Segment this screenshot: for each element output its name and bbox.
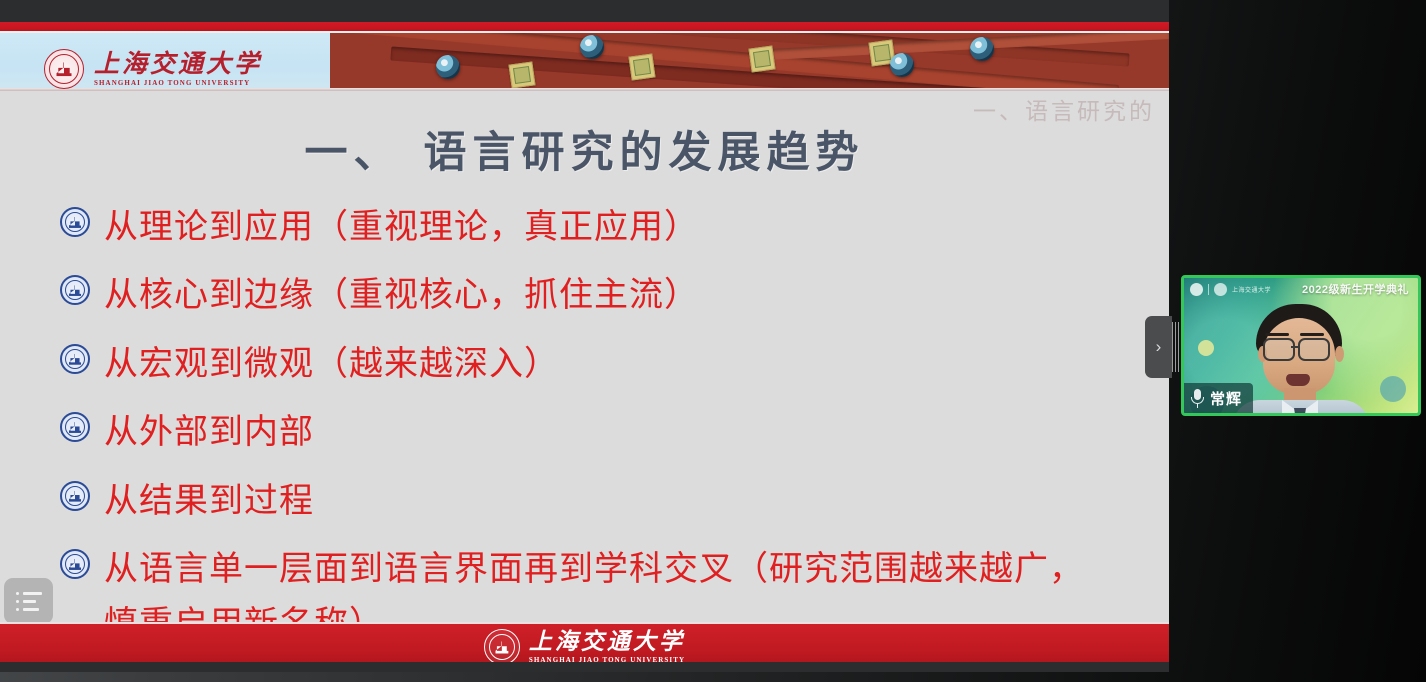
sjtu-seal-bullet-icon <box>60 344 90 374</box>
participant-name: 常辉 <box>1210 388 1242 409</box>
virtual-bg-title: 2022级新生开学典礼 <box>1302 281 1409 297</box>
bullet-text: 从宏观到微观（越来越深入） <box>104 337 559 392</box>
bullet-text: 从理论到应用（重视理论，真正应用） <box>104 200 699 255</box>
list-item: 从外部到内部 <box>60 405 1140 460</box>
sjtu-seal-bullet-icon <box>60 412 90 442</box>
list-item: 从结果到过程 <box>60 474 1140 529</box>
panel-collapse-button[interactable]: › <box>1145 316 1172 378</box>
list-item: 从核心到边缘（重视核心，抓住主流） <box>60 268 1140 323</box>
sjtu-seal-icon <box>484 629 520 665</box>
sjtu-seal-bullet-icon <box>60 549 90 579</box>
bullet-text: 从核心到边缘（重视核心，抓住主流） <box>104 268 699 323</box>
sjtu-seal-bullet-icon <box>60 275 90 305</box>
sjtu-seal-bullet-icon <box>60 481 90 511</box>
microphone-icon <box>1191 389 1204 408</box>
sjtu-logo-header: 上海交通大学 SHANGHAI JIAO TONG UNIVERSITY <box>44 48 262 90</box>
slide-bullet-list: 从理论到应用（重视理论，真正应用） 从核心到边缘（重视核心，抓住主流） 从宏观到… <box>60 200 1140 666</box>
outline-list-icon <box>16 592 42 611</box>
top-bar <box>0 0 1169 22</box>
screen-root: 上海交通大学 SHANGHAI JIAO TONG UNIVERSITY 一、语… <box>0 0 1426 682</box>
previous-slide-ghost-text: 一、语言研究的 <box>973 92 1155 126</box>
sjtu-logo-chinese: 上海交通大学 <box>94 51 262 76</box>
list-item: 从宏观到微观（越来越深入） <box>60 337 1140 392</box>
org-logo-icon <box>1190 283 1203 296</box>
chevron-right-icon: › <box>1156 337 1162 357</box>
banner-architecture-photo <box>330 33 1169 91</box>
virtual-bg-org: 上海交通大学 <box>1232 285 1271 294</box>
sjtu-logo-footer: 上海交通大学 SHANGHAI JIAO TONG UNIVERSITY <box>484 629 685 665</box>
participant-name-badge: 常辉 <box>1184 383 1253 413</box>
participant-video-tile[interactable]: 上海交通大学 2022级新生开学典礼 常辉 <box>1181 275 1421 416</box>
sjtu-seal-bullet-icon <box>60 207 90 237</box>
sjtu-footer-chinese: 上海交通大学 <box>529 630 685 653</box>
sjtu-logo-english: SHANGHAI JIAO TONG UNIVERSITY <box>94 80 262 87</box>
shared-slide[interactable]: 上海交通大学 SHANGHAI JIAO TONG UNIVERSITY 一、语… <box>0 22 1169 672</box>
list-item: 从理论到应用（重视理论，真正应用） <box>60 200 1140 255</box>
sjtu-seal-icon <box>44 49 84 89</box>
slide-title: 一、 语言研究的发展趋势 <box>0 118 1169 180</box>
slide-bottom-strip <box>0 662 1169 672</box>
bullet-text: 从外部到内部 <box>104 405 314 460</box>
slide-top-red-rule <box>0 22 1169 33</box>
org-logo-secondary-icon <box>1214 283 1227 296</box>
bullet-text: 从结果到过程 <box>104 474 314 529</box>
slide-outline-button[interactable] <box>4 578 53 624</box>
panel-drag-handle[interactable] <box>1172 322 1179 372</box>
